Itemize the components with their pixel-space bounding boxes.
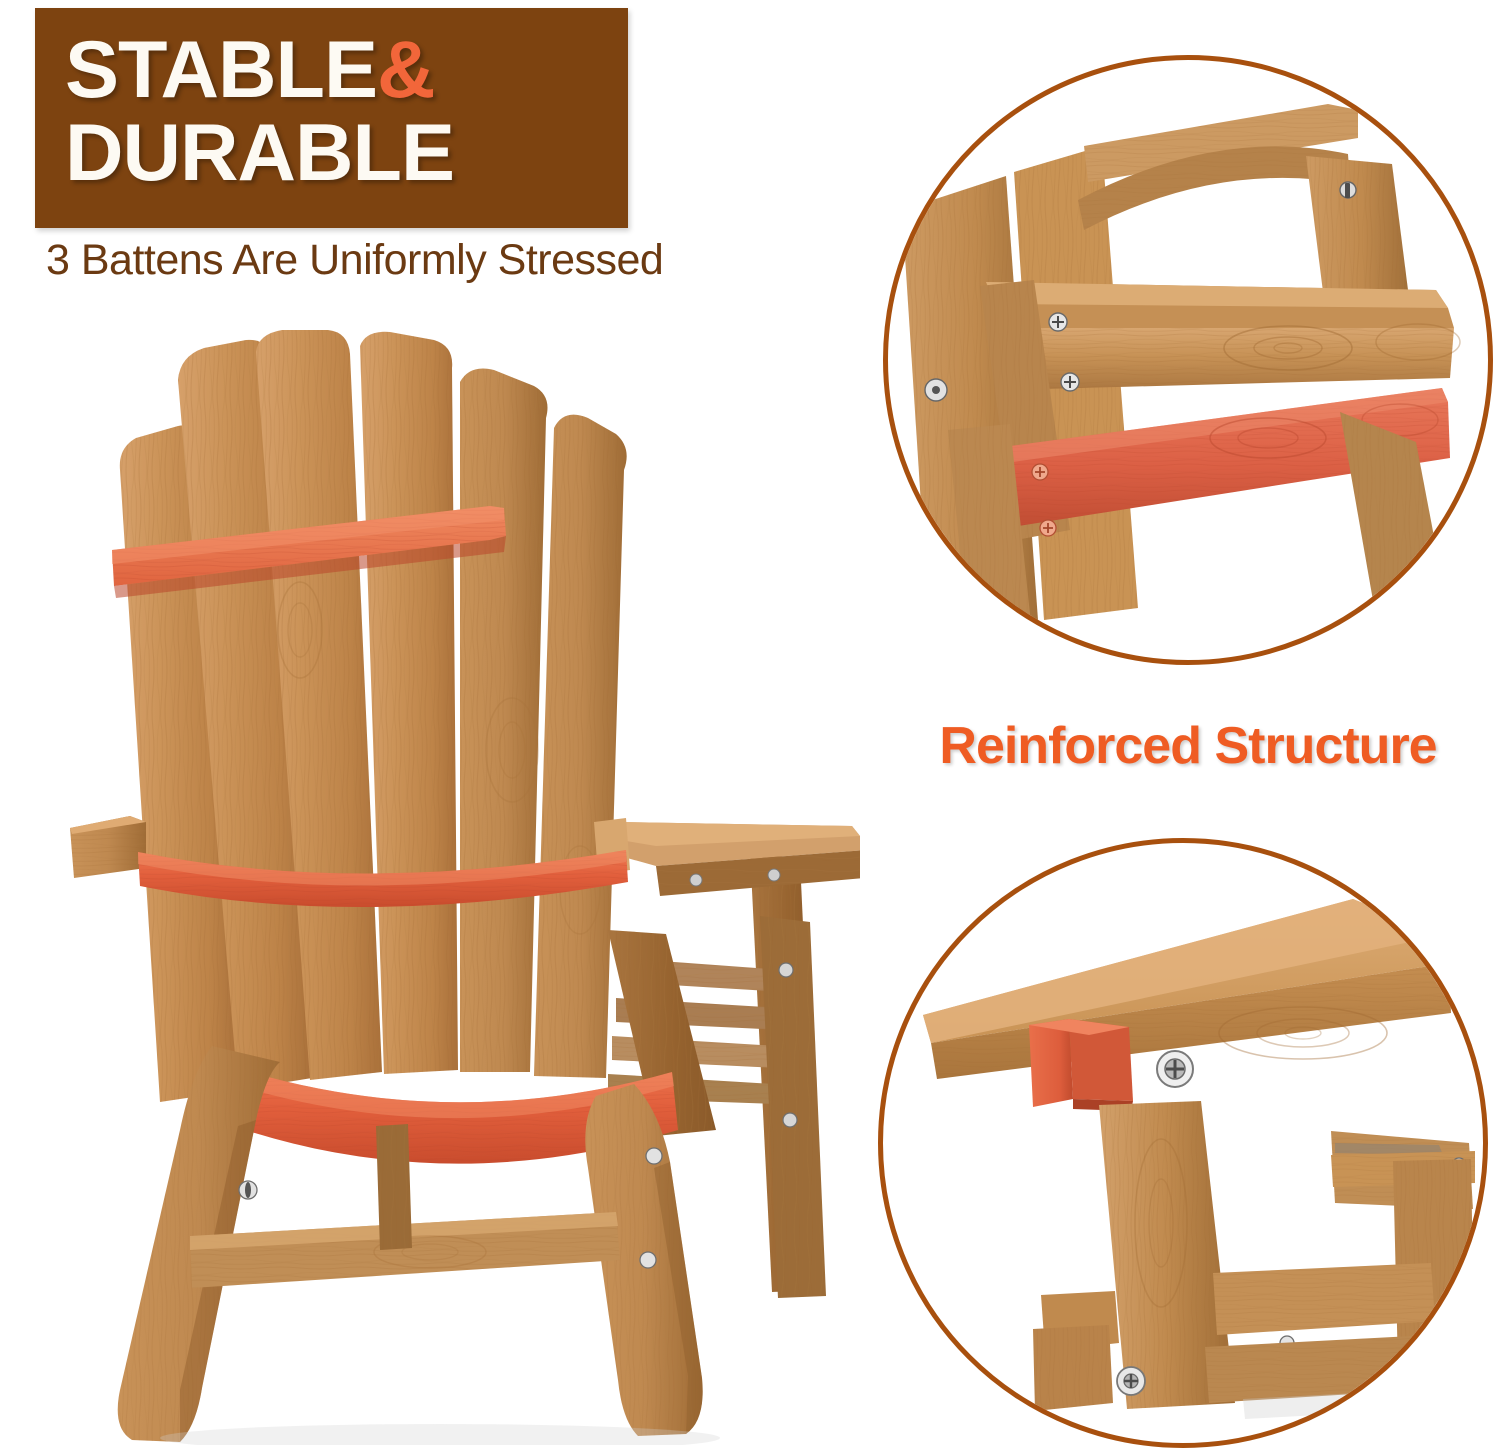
- headline-banner: STABLE& DURABLE: [35, 8, 628, 228]
- subheading-text: 3 Battens Are Uniformly Stressed: [46, 236, 663, 285]
- batten-joint-illustration: [888, 60, 1480, 652]
- headline-line-2: DURABLE: [65, 113, 454, 194]
- chair-illustration: [60, 330, 860, 1445]
- armrest-support-illustration: [883, 843, 1475, 1435]
- red-bracket: [1029, 1019, 1133, 1111]
- detail-photo-batten-joint: [883, 55, 1493, 665]
- headline-stable-text: STABLE: [65, 25, 377, 115]
- headline-line-1: STABLE&: [65, 30, 435, 111]
- brown-batten: [986, 282, 1460, 391]
- reinforced-structure-caption: Reinforced Structure: [888, 716, 1488, 776]
- headline-ampersand: &: [377, 25, 435, 115]
- armrest-slab: [923, 899, 1451, 1079]
- main-product-image: [60, 330, 860, 1445]
- detail-photo-armrest-support: [878, 838, 1488, 1448]
